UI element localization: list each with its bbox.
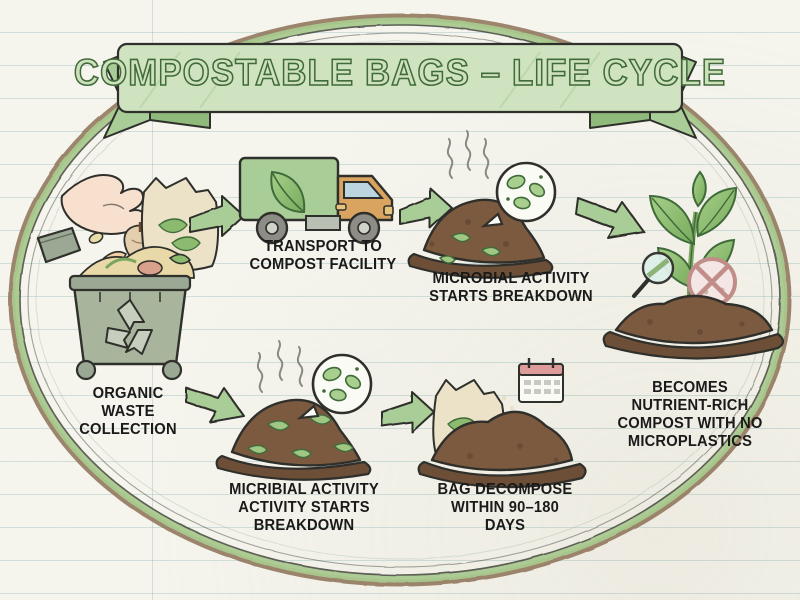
title-ribbon (104, 44, 696, 138)
steam-wisp-icon (448, 131, 488, 178)
step-label-bag-decompose-within-90-180-days: BAG DECOMPOSE WITHIN 90–180 DAYS (419, 481, 590, 535)
icon-bag-in-compost (419, 358, 586, 487)
infographic-poster: COMPOSTABLE BAGS – LIFE CYCLE ORGANIC WA… (0, 0, 800, 600)
recycle-bin-icon (70, 276, 190, 379)
step-label-organic-waste-collection: ORGANIC WASTE COLLECTION (54, 385, 201, 439)
arrow-right-icon (382, 392, 434, 432)
step-label-transport-to-compost-facility: TRANSPORT TO COMPOST FACILITY (236, 238, 411, 274)
step-label-becomes-nutrient-rich-compost: BECOMES NUTRIENT-RICH COMPOST WITH NO MI… (600, 379, 780, 451)
icon-delivery-truck (240, 158, 393, 243)
bin-lid-icon (38, 228, 80, 262)
microbe-magnifier-bubble-icon (300, 355, 371, 418)
steam-wisp-icon (258, 341, 302, 392)
calendar-icon (519, 358, 563, 402)
step-label-micribial-activity-starts-breakdown: MICRIBIAL ACTIVITY ACTIVITY STARTS BREAK… (205, 481, 404, 535)
microbe-magnifier-bubble-icon (484, 163, 555, 226)
icon-waste-bin-with-hand (38, 175, 218, 379)
arrow-right-icon (576, 198, 644, 238)
magnifying-glass-icon (634, 253, 673, 296)
step-label-microbial-activity-starts-breakdown: MICROBIAL ACTIVITY STARTS BREAKDOWN (409, 270, 613, 306)
